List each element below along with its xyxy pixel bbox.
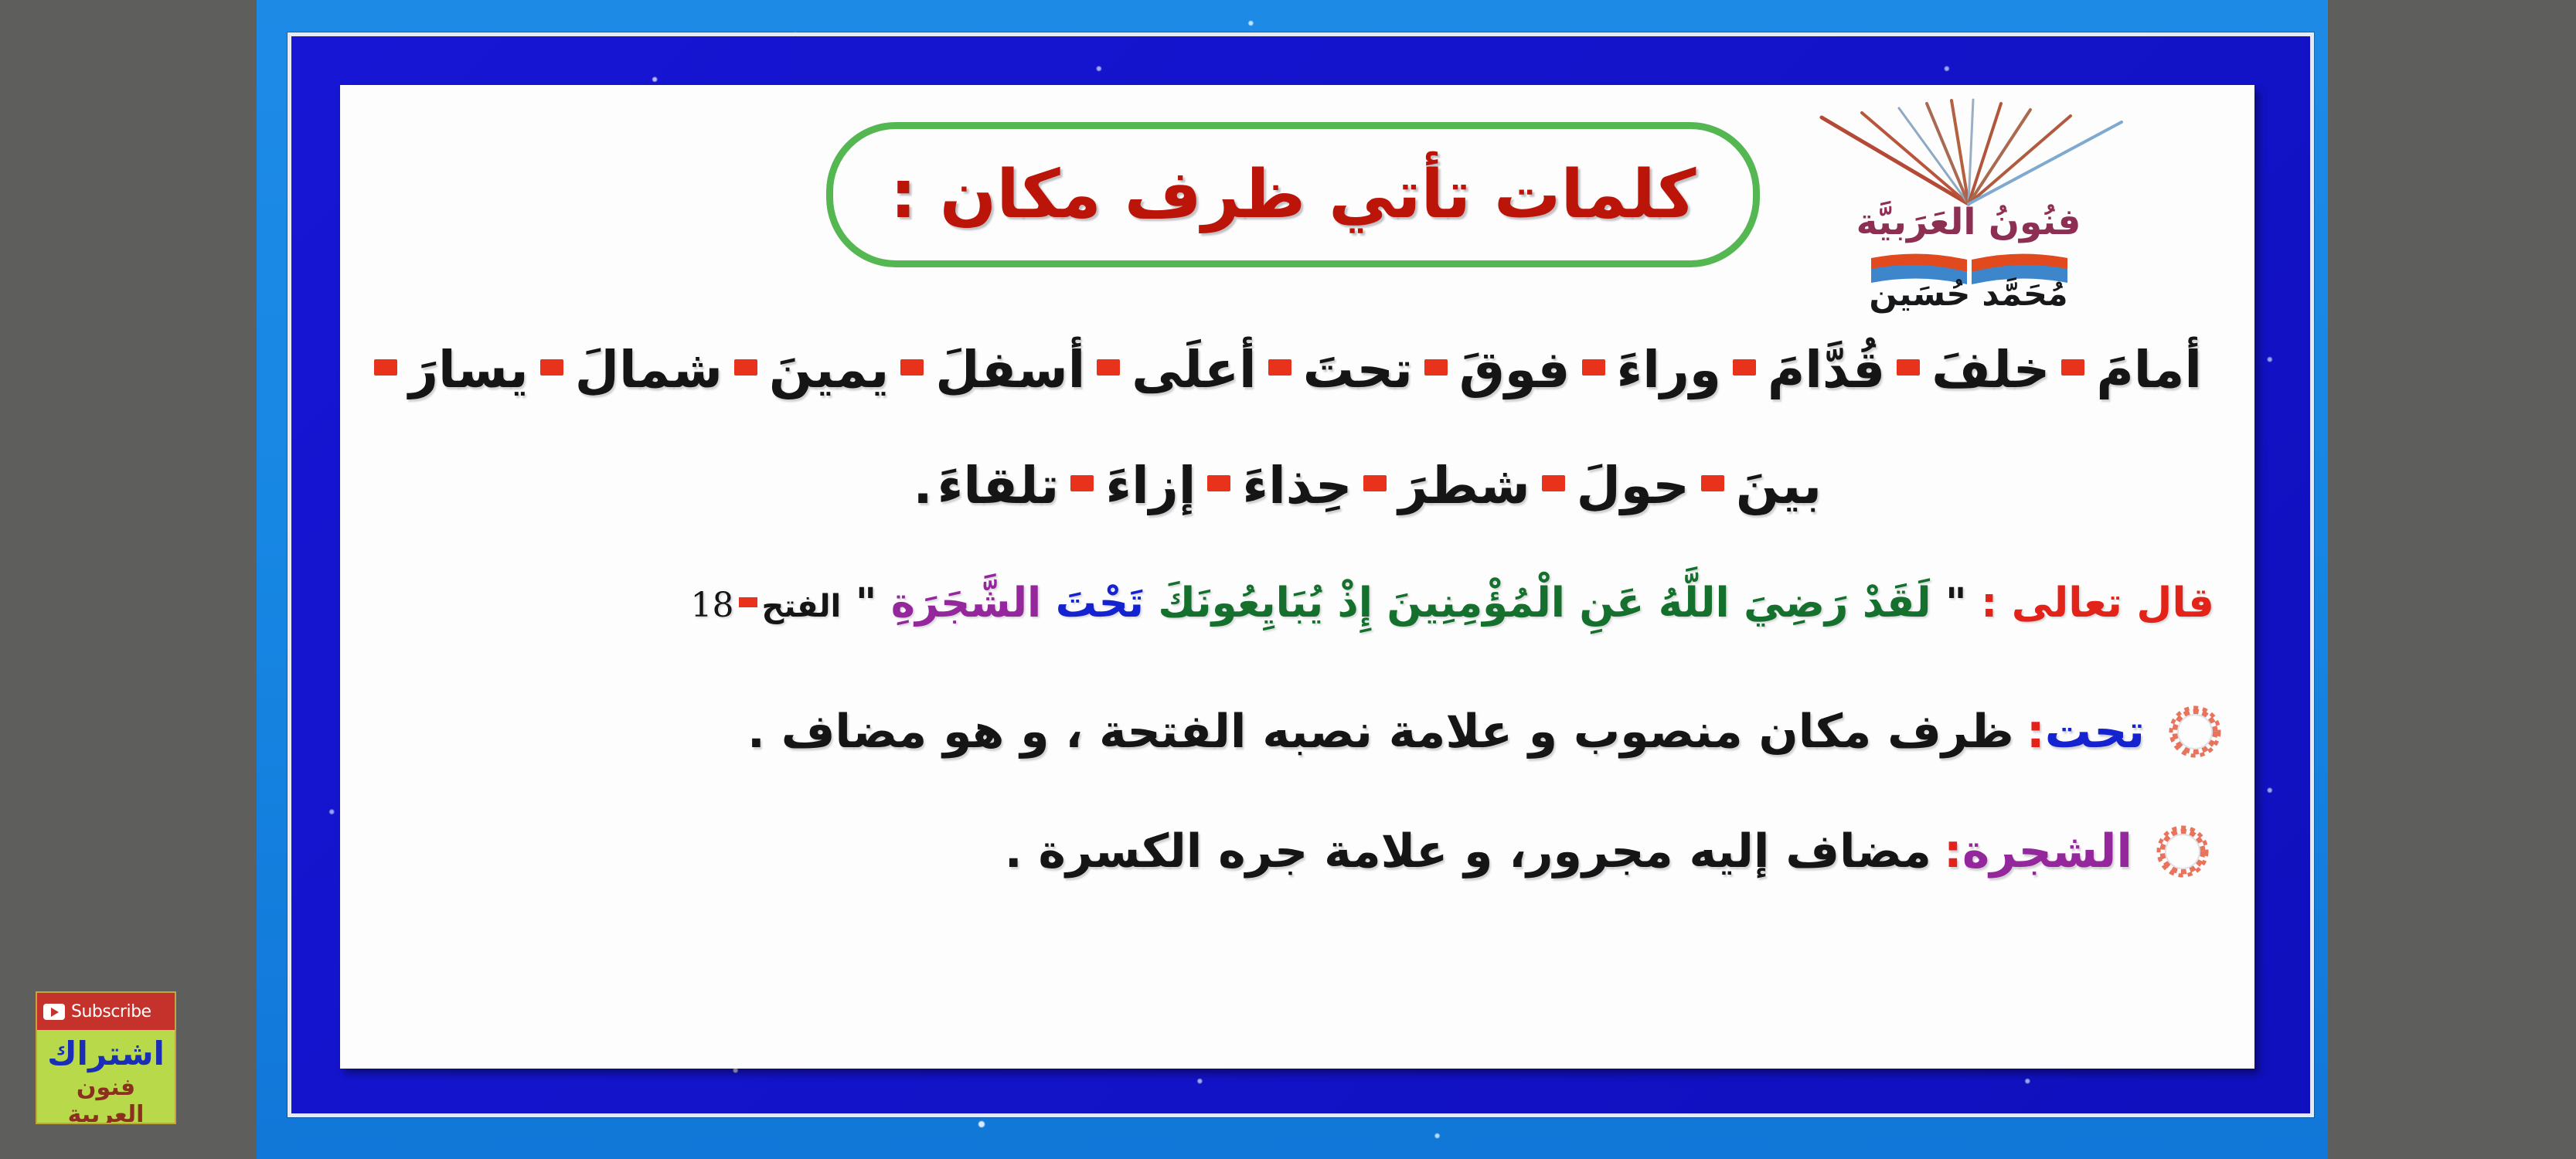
word-separator-dash <box>1363 475 1387 491</box>
verse-reference-surah: الفتح <box>762 589 842 624</box>
slide-content-page: فنُونُ العَرَبيَّة مُحَمَّد حُسَين كلمات… <box>340 85 2254 1069</box>
brand-logo: فنُونُ العَرَبيَّة مُحَمَّد حُسَين <box>1775 96 2162 328</box>
explanation-row-tahta: تحت: ظرف مكان منصوب و علامة نصبه الفتحة … <box>747 703 2224 760</box>
logo-author-text: مُحَمَّد حُسَين <box>1775 275 2162 314</box>
subscribe-bar[interactable]: Subscribe <box>37 993 175 1030</box>
watermark-brand: فنون العربية <box>37 1074 175 1124</box>
youtube-play-icon <box>43 1004 65 1020</box>
preposition-word: أمامَ <box>2096 340 2202 399</box>
preposition-word: بينَ <box>1736 456 1822 515</box>
preposition-word-row-1: أمامَخلفَقُدَّامَوراءَفوقَتحتَأعلَىأسفلَ… <box>362 340 2202 399</box>
preposition-word: فوقَ <box>1459 340 1570 399</box>
logo-brand-text: فنُونُ العَرَبيَّة <box>1775 201 2162 243</box>
explanation-term-shajara: الشجرة <box>1962 824 2132 879</box>
title-pill-border: كلمات تأتي ظرف مكان : <box>826 122 1760 267</box>
explanation-text-shajara: مضاف إليه مجرور، و علامة جره الكسرة . <box>1005 824 1931 879</box>
word-separator-dash <box>734 359 757 376</box>
word-separator-dash <box>1897 359 1920 376</box>
word-separator-dash <box>1268 359 1291 376</box>
verse-word-tahta: تَحْتَ <box>1056 579 1144 627</box>
verse-close-quote: " <box>856 579 877 627</box>
preposition-word: أسفلَ <box>935 340 1085 399</box>
page-title: كلمات تأتي ظرف مكان : <box>890 160 1696 229</box>
explanation-term-tahta: تحت <box>2045 705 2145 759</box>
preposition-word-row-2: بينَحولَشطرَحِذاءَإزاءَتلقاءَ. <box>914 456 1822 515</box>
subscribe-label-ar: اشتراك <box>37 1035 175 1072</box>
preposition-word: قُدَّامَ <box>1768 340 1885 399</box>
verse-intro: قال تعالى : <box>1981 579 2214 627</box>
preposition-word: حولَ <box>1577 456 1690 515</box>
preposition-word: تحتَ <box>1303 340 1413 399</box>
preposition-word: يمينَ <box>769 340 889 399</box>
verse-word-shajara: الشَّجَرَةِ <box>891 579 1041 627</box>
subscribe-label-en: Subscribe <box>71 1002 151 1021</box>
preposition-word: وراءَ <box>1617 340 1721 399</box>
explanation-row-shajara: الشجرة: مضاف إليه مجرور، و علامة جره الك… <box>1005 823 2211 880</box>
verse-text-green: لَقَدْ رَضِيَ اللَّهُ عَنِ الْمُؤْمِنِين… <box>1158 579 1931 627</box>
word-separator-dash <box>1701 475 1724 491</box>
quran-verse-line: قال تعالى : " لَقَدْ رَضِيَ اللَّهُ عَنِ… <box>691 579 2214 627</box>
word-separator-dash <box>1582 359 1605 376</box>
explanation-colon-1: : <box>2026 705 2045 759</box>
gear-bullet-icon <box>2166 703 2224 760</box>
gear-bullet-icon <box>2154 823 2211 880</box>
preposition-word: شمالَ <box>575 340 723 399</box>
preposition-word: تلقاءَ <box>938 456 1060 515</box>
word-separator-dash <box>374 359 397 376</box>
preposition-word: إزاءَ <box>1105 456 1196 515</box>
preposition-word: يسارَ <box>409 340 529 399</box>
preposition-word: خلفَ <box>1931 340 2050 399</box>
explanation-colon-2: : <box>1944 824 1962 879</box>
word-separator-dash <box>1542 475 1565 491</box>
verse-reference-number: 18 <box>691 586 734 625</box>
word-separator-dash <box>540 359 563 376</box>
word-separator-dash <box>900 359 924 376</box>
verse-open-quote: " <box>1945 579 1967 627</box>
preposition-word: شطرَ <box>1398 456 1530 515</box>
word-separator-dash <box>1070 475 1094 491</box>
explanation-text-tahta: ظرف مكان منصوب و علامة نصبه الفتحة ، و ه… <box>747 705 2014 759</box>
subscribe-watermark[interactable]: Subscribe اشتراك فنون العربية <box>36 991 176 1124</box>
preposition-word: حِذاءَ <box>1242 456 1352 515</box>
preposition-word: أعلَى <box>1131 340 1256 399</box>
word-separator-dash <box>1207 475 1230 491</box>
word-separator-dash <box>1424 359 1448 376</box>
slide-stage: فنُونُ العَرَبيَّة مُحَمَّد حُسَين كلمات… <box>0 0 2576 1159</box>
reference-dash <box>739 597 757 607</box>
row-period: . <box>914 456 933 515</box>
word-separator-dash <box>1097 359 1120 376</box>
word-separator-dash <box>1733 359 1756 376</box>
word-separator-dash <box>2061 359 2084 376</box>
